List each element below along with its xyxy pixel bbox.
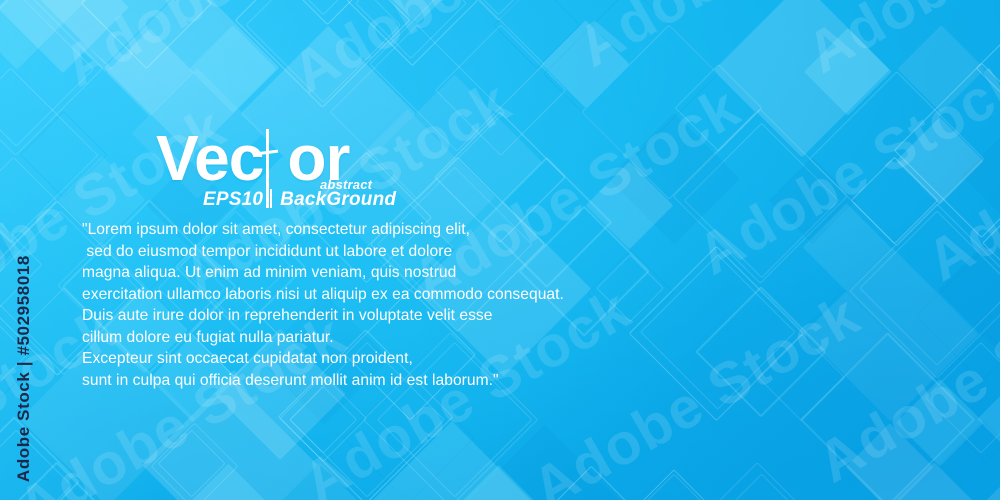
diamond-pattern-field [0,0,1000,500]
adobe-stock-credit: Adobe Stock | #502958018 [14,255,34,482]
vector-background-canvas: Adobe StockAdobe StockAdobe StockAdobe S… [0,0,1000,500]
